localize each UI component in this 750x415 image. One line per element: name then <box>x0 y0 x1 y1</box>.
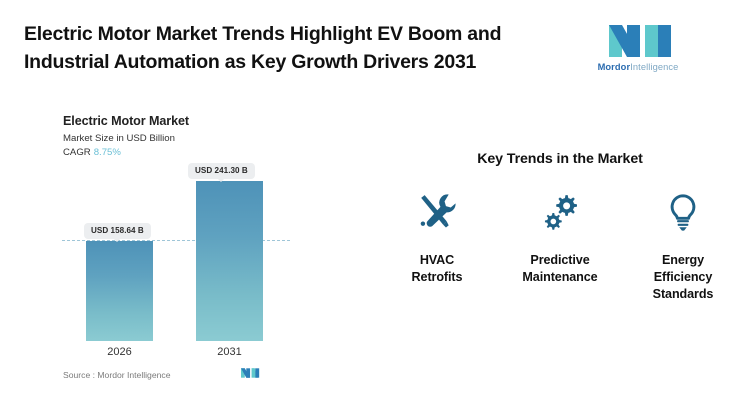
trend-label-hvac-retrofits: HVAC Retrofits <box>412 252 463 286</box>
trend-item-hvac-retrofits: HVAC Retrofits <box>378 190 496 303</box>
lightbulb-icon <box>661 190 705 236</box>
trend-item-energy-efficiency-standards: Energy Efficiency Standards <box>624 190 742 303</box>
page-title-line-1: Electric Motor Market Trends Highlight E… <box>24 21 564 49</box>
key-trends-heading: Key Trends in the Market <box>370 151 750 167</box>
trend-label-line-2: Efficiency <box>653 269 714 286</box>
mordor-logo-mark <box>592 22 684 60</box>
logo-word-mordor: Mordor <box>598 62 631 72</box>
trend-label-line-2: Maintenance <box>522 269 597 286</box>
bar-value-label-2026: USD 158.64 B <box>84 223 151 239</box>
page-title: Electric Motor Market Trends Highlight E… <box>24 21 564 76</box>
trend-label-line-2: Retrofits <box>412 269 463 286</box>
chart-source-text: Source : Mordor Intelligence <box>63 370 170 380</box>
key-trends-panel: Key Trends in the Market HVAC Retrofits <box>370 140 750 370</box>
mordor-logo-wordmark: MordorIntelligence <box>592 62 684 72</box>
gears-icon <box>538 190 582 236</box>
mordor-intelligence-logo: MordorIntelligence <box>592 22 684 78</box>
trend-label-line-3: Standards <box>653 286 714 303</box>
bar-value-label-2031: USD 241.30 B <box>188 163 255 179</box>
mordor-intelligence-mark <box>236 366 263 380</box>
tools-icon <box>415 190 459 236</box>
trend-label-line-1: HVAC <box>412 252 463 269</box>
trend-label-line-1: Predictive <box>522 252 597 269</box>
header: Electric Motor Market Trends Highlight E… <box>0 0 750 95</box>
bar-2031 <box>196 181 263 341</box>
trend-item-predictive-maintenance: Predictive Maintenance <box>501 190 619 303</box>
trend-label-predictive-maintenance: Predictive Maintenance <box>522 252 597 286</box>
chart-plot-area: USD 158.64 B USD 241.30 B 2026 2031 <box>0 100 340 400</box>
x-axis-tick-2026: 2026 <box>86 346 153 358</box>
trend-label-energy-efficiency-standards: Energy Efficiency Standards <box>653 252 714 303</box>
page-title-line-2: Industrial Automation as Key Growth Driv… <box>24 49 564 77</box>
key-trends-row: HVAC Retrofits Predictive Maintenance <box>378 190 742 303</box>
x-axis-tick-2031: 2031 <box>196 346 263 358</box>
trend-label-line-1: Energy <box>653 252 714 269</box>
bar-2026 <box>86 241 153 341</box>
chart-panel: Electric Motor Market Market Size in USD… <box>0 100 340 400</box>
logo-word-intelligence: Intelligence <box>630 62 678 72</box>
